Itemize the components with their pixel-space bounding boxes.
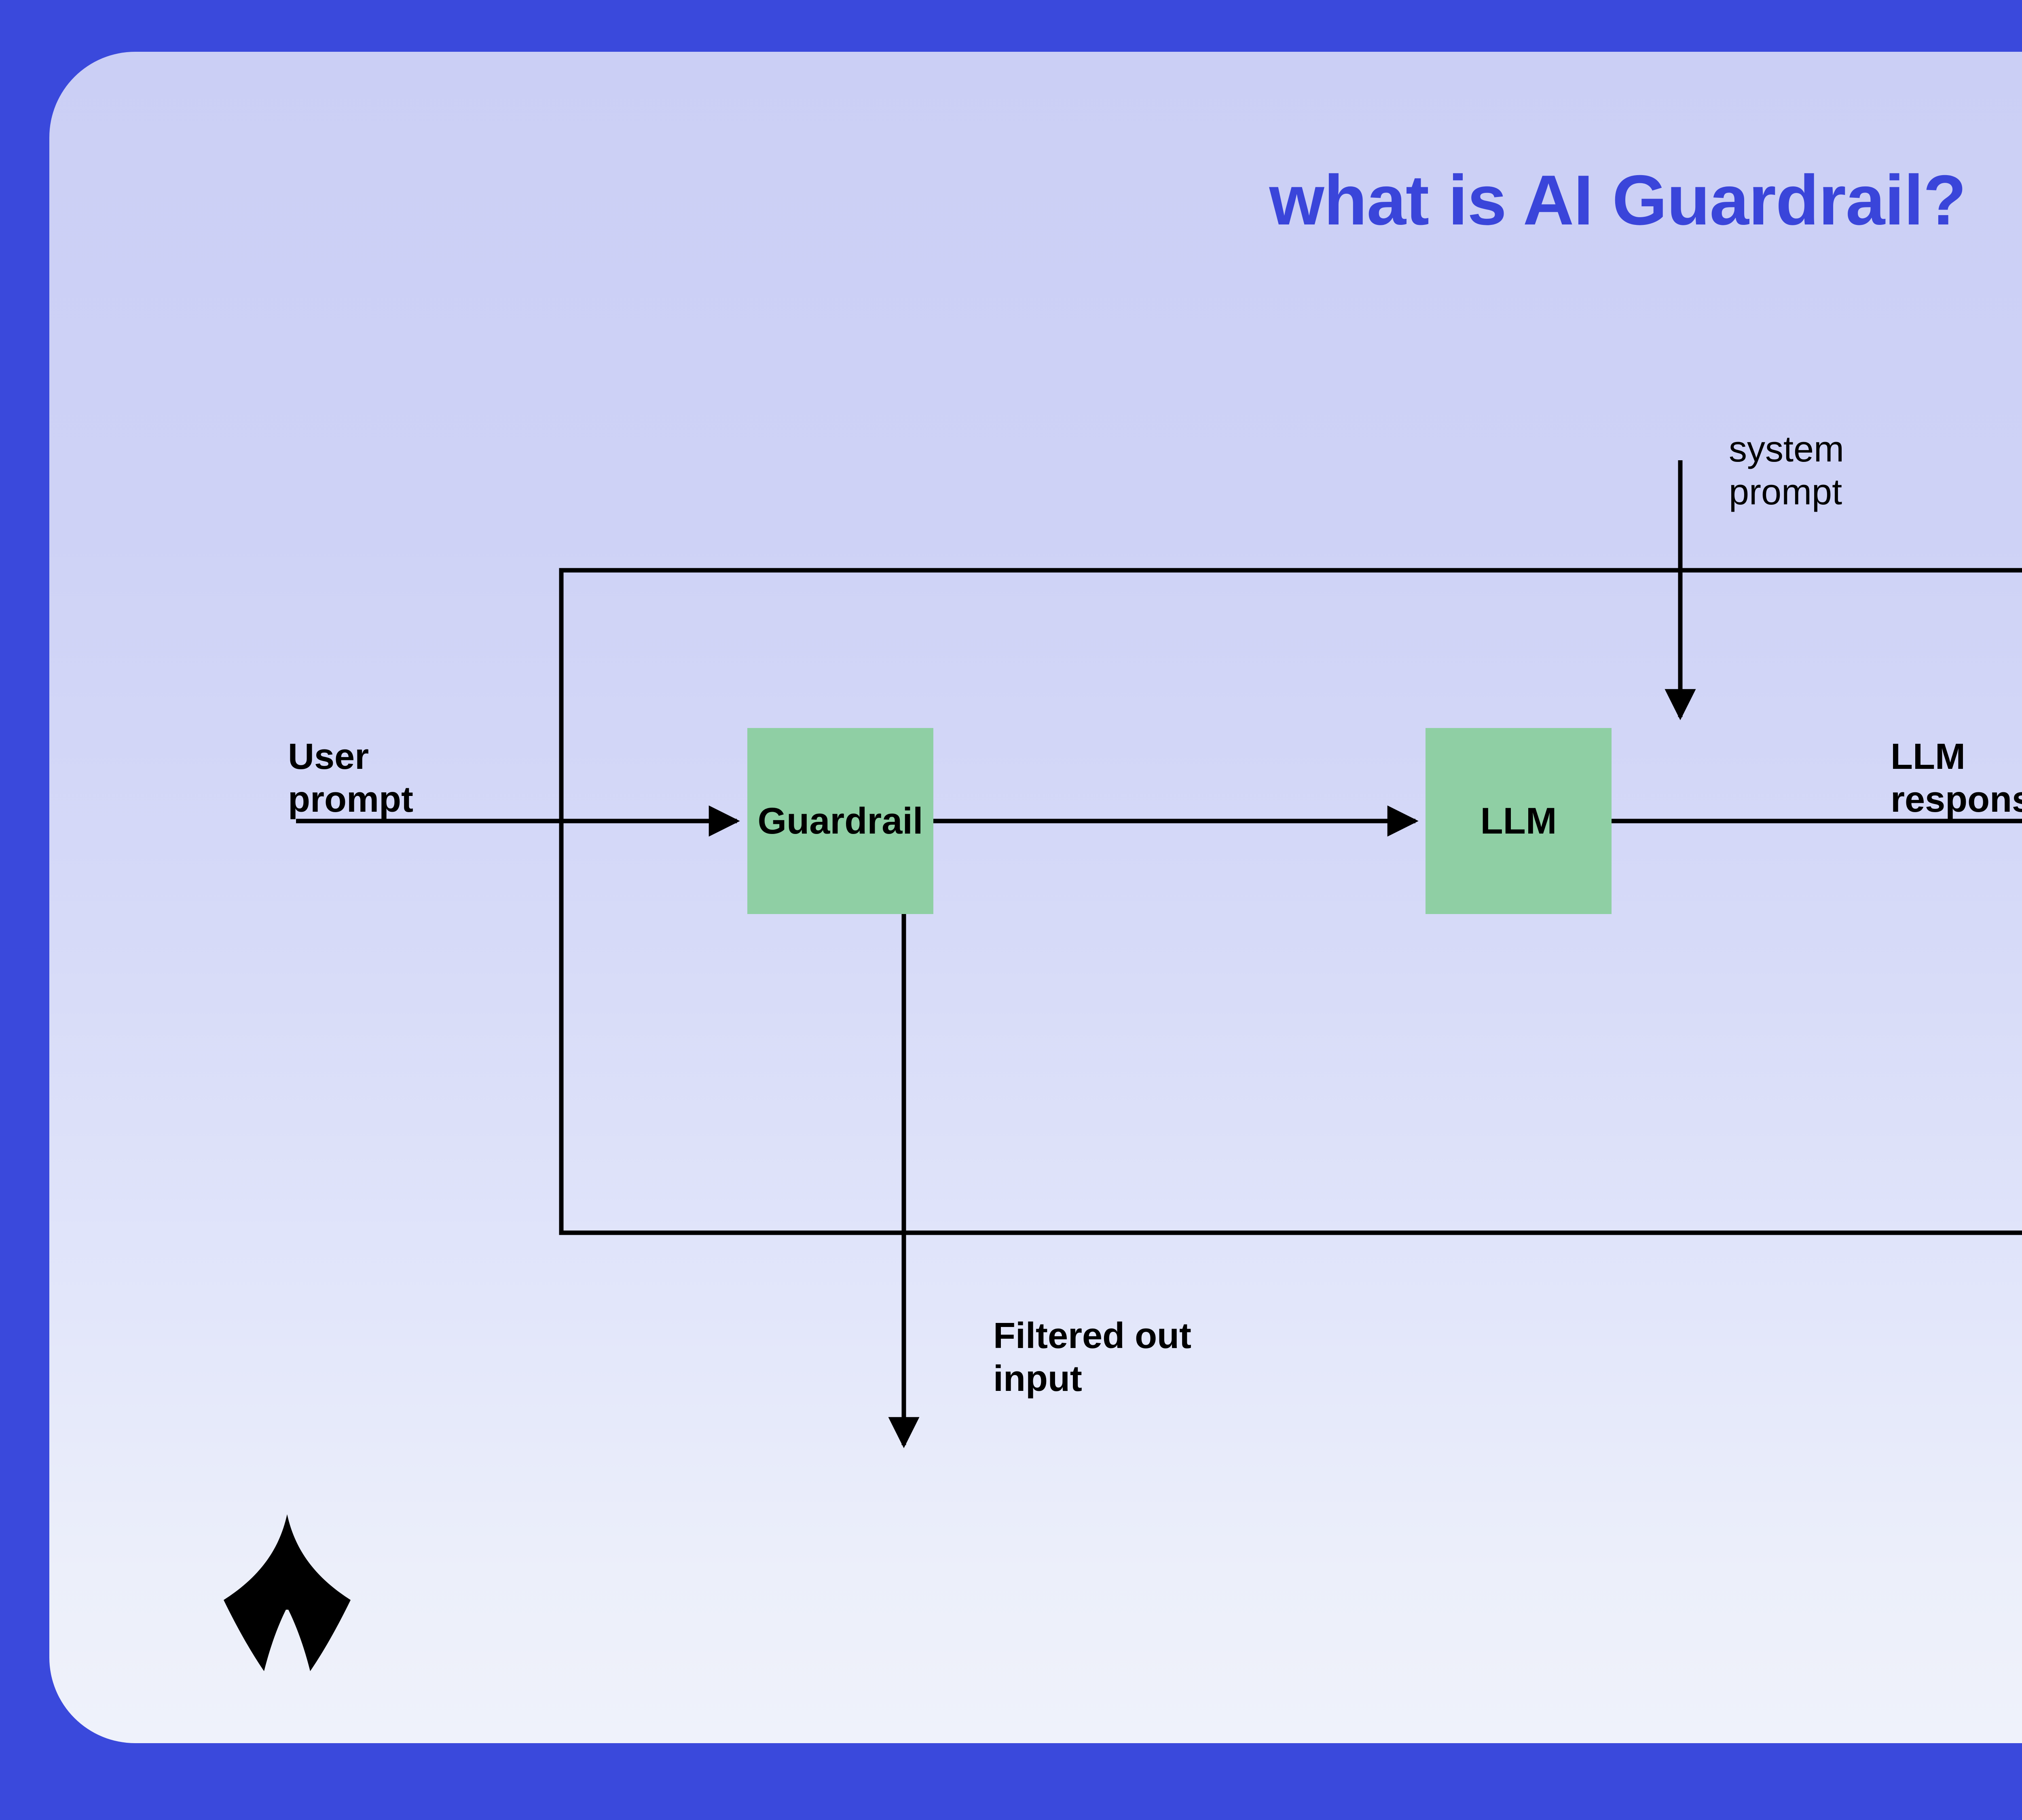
content-card: what is AI Guardrail? [49, 52, 2022, 1743]
node-guardrail-input[interactable]: Guardrail [747, 728, 933, 914]
node-label: LLM [1480, 802, 1557, 840]
guardrail-flow-diagram: Guardrail LLM Guardrail User prompt syst… [49, 52, 2022, 1743]
edge-label-system-prompt: system prompt [1729, 428, 1844, 514]
edge-label-user-prompt: User prompt [288, 735, 413, 821]
screenshot-canvas: what is AI Guardrail? [0, 0, 2022, 1820]
arrowhead-logo-icon [220, 1512, 354, 1674]
diagram-wires [49, 52, 2022, 1743]
node-label: Guardrail [757, 802, 923, 840]
edge-label-filtered-out-input: Filtered out input [993, 1314, 1191, 1400]
node-llm[interactable]: LLM [1426, 728, 1612, 914]
edge-label-llm-response: LLM response [1891, 735, 2022, 821]
